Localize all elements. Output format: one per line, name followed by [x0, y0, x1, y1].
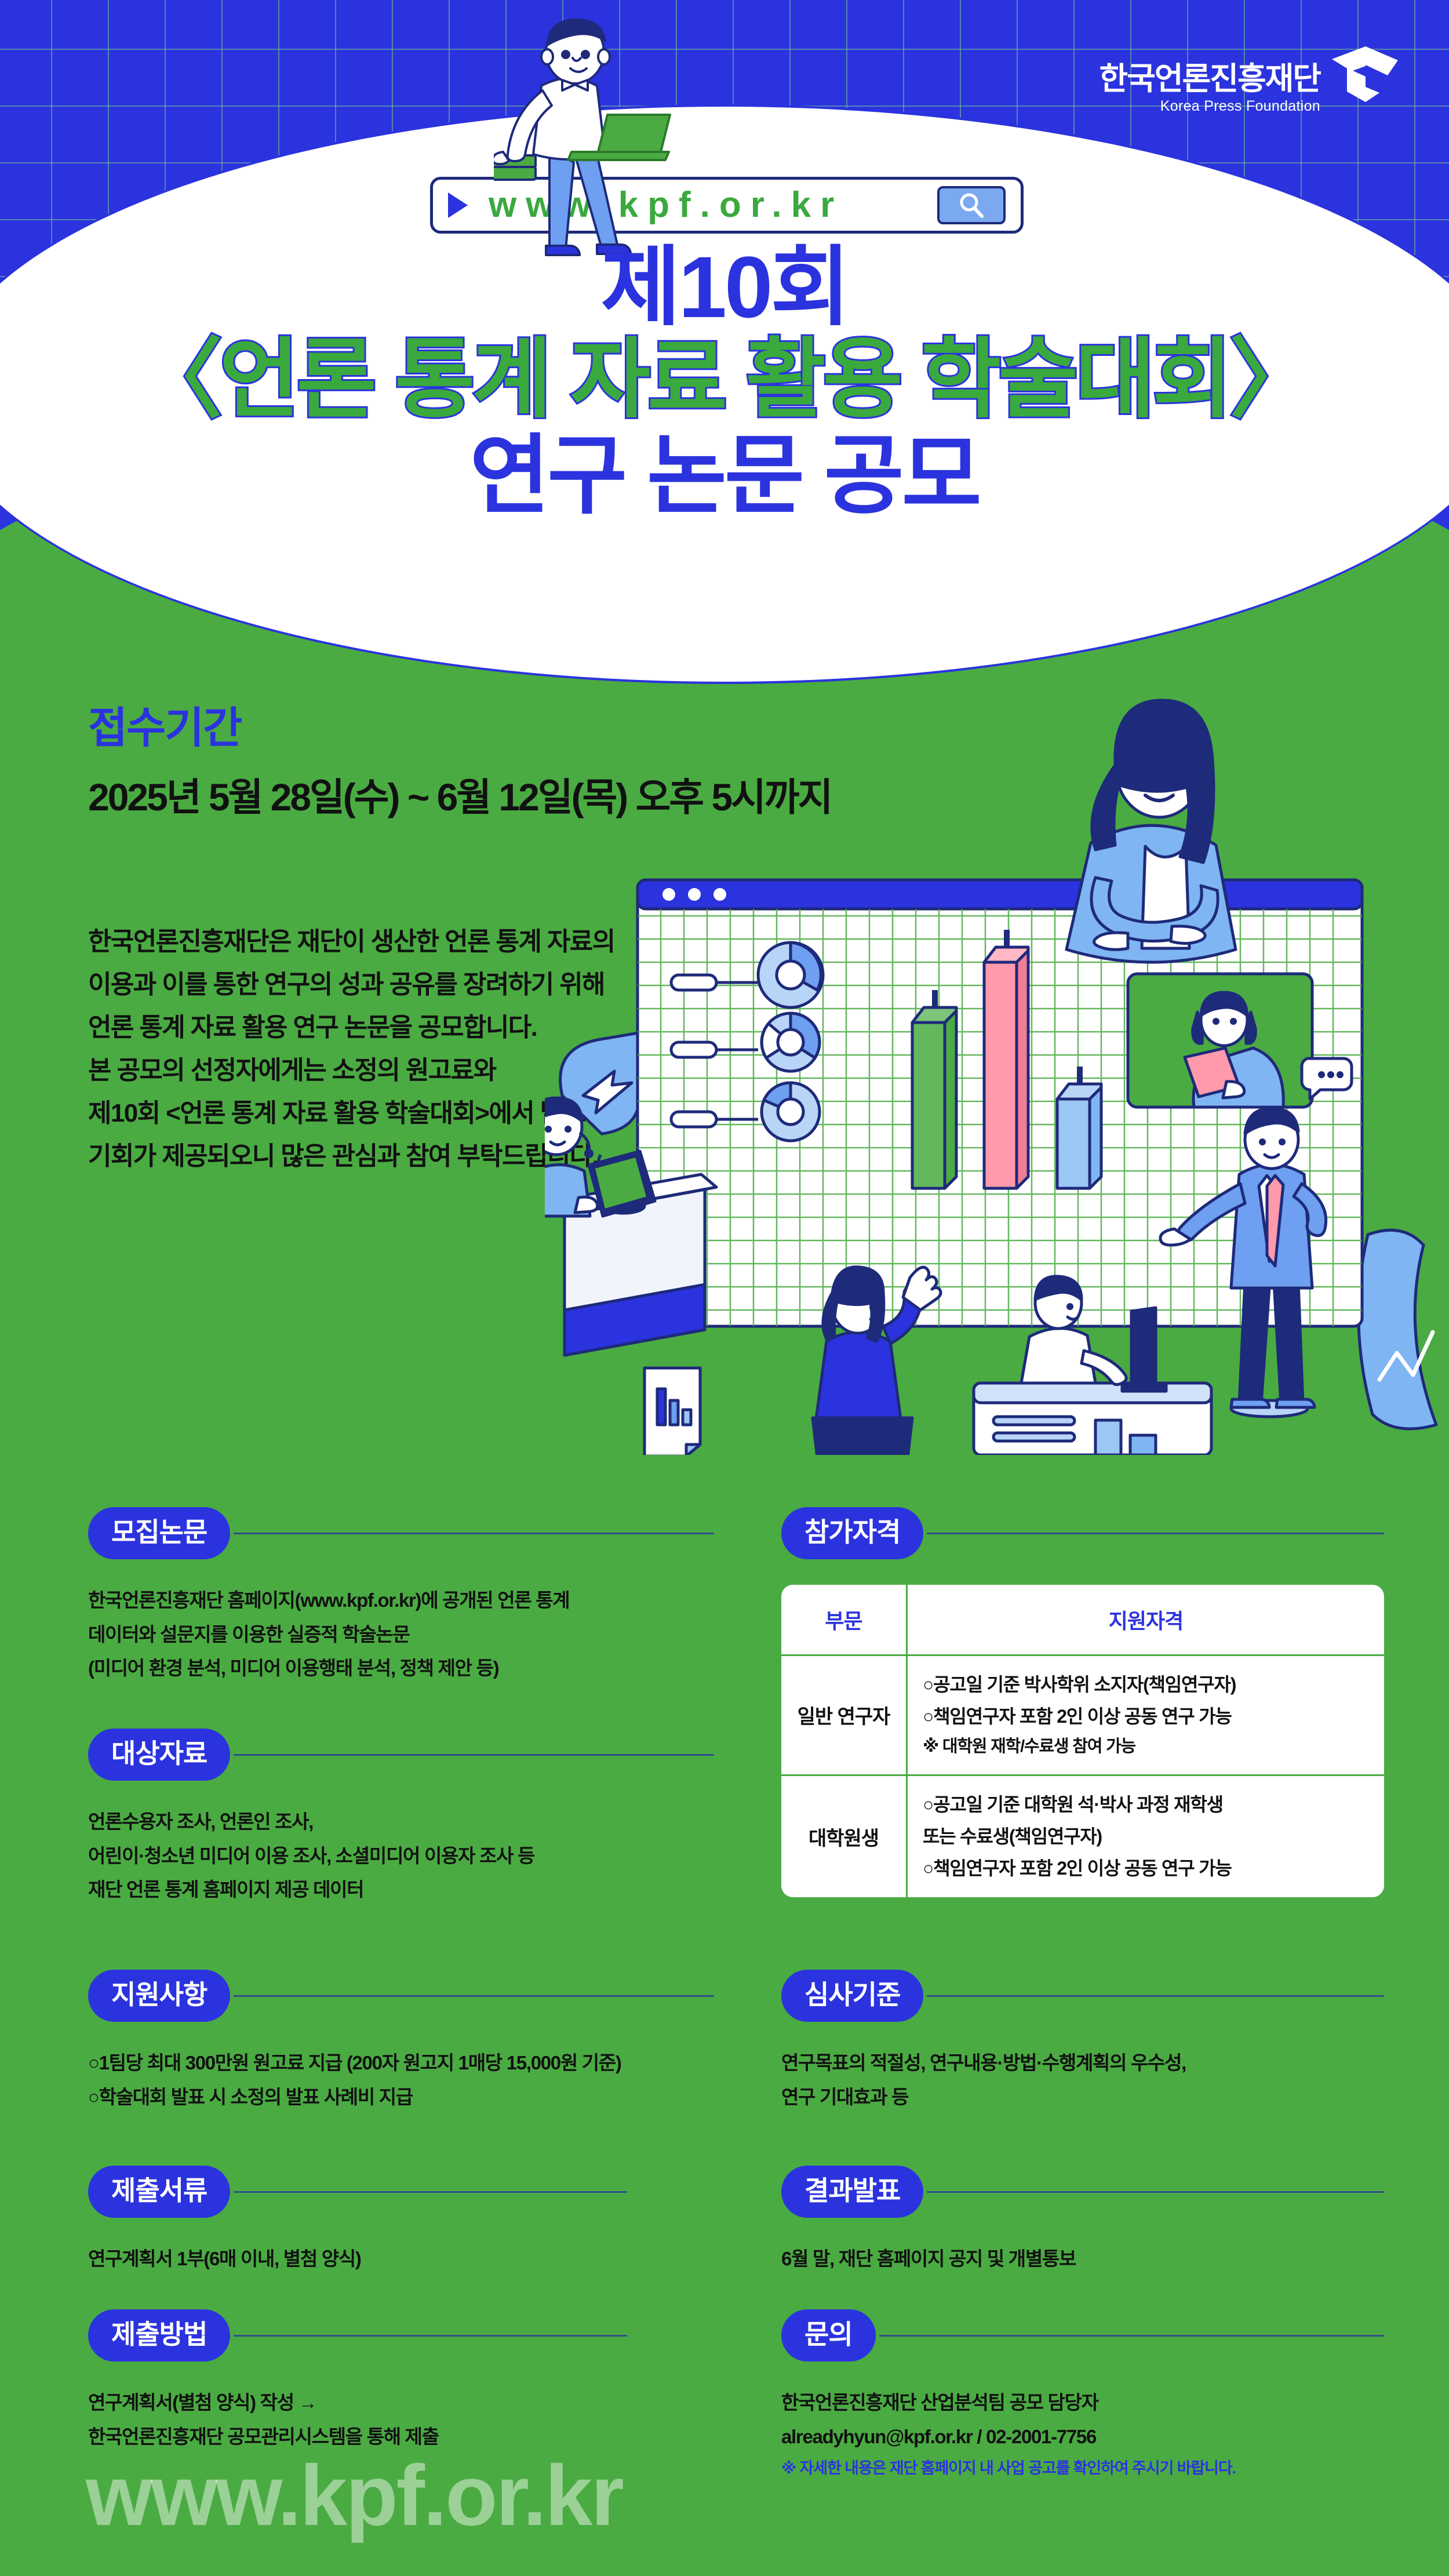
section-criteria: 심사기준 연구목표의 적절성, 연구내용·방법·수행계획의 우수성, 연구 기대… — [781, 1970, 1384, 2114]
section-body: 연구계획서 1부(6매 이내, 별첨 양식) — [88, 2242, 627, 2276]
body-line: 어린이·청소년 미디어 이용 조사, 소셜미디어 이용자 조사 등 — [88, 1839, 714, 1873]
section-header: 제출방법 — [88, 2309, 627, 2362]
person-with-laptop-illustration — [494, 17, 784, 267]
section-body: 6월 말, 재단 홈페이지 공지 및 개별통보 — [781, 2242, 1384, 2276]
header-rule — [234, 1995, 714, 1997]
section-body: 한국언론진흥재단 홈페이지(www.kpf.or.kr)에 공개된 언론 통계 … — [88, 1584, 714, 1686]
body-line: 연구목표의 적절성, 연구내용·방법·수행계획의 우수성, — [781, 2046, 1384, 2080]
title-line-2: 〈언론 통계 자료 활용 학술대회〉 — [0, 330, 1449, 428]
contact-email-phone[interactable]: alreadyhyun@kpf.or.kr / 02-2001-7756 — [781, 2420, 1384, 2454]
section-title-papers: 모집논문 — [88, 1507, 230, 1559]
cell-part: 일반 연구자 — [781, 1656, 908, 1776]
kpf-logo: 한국언론진흥재단 Korea Press Foundation — [1100, 45, 1399, 114]
section-title-contact: 문의 — [781, 2309, 876, 2362]
section-title-eligibility: 참가자격 — [781, 1507, 923, 1559]
body-line: 한국언론진흥재단 홈페이지(www.kpf.or.kr)에 공개된 언론 통계 — [88, 1584, 714, 1618]
body-line: 한국언론진흥재단 산업분석팀 공모 담당자 — [781, 2386, 1384, 2420]
table-row: 대학원생 ○공고일 기준 대학원 석·박사 과정 재학생 또는 수료생(책임연구… — [781, 1776, 1384, 1897]
section-header: 모집논문 — [88, 1507, 714, 1559]
eligibility-table: 부문 지원자격 일반 연구자 ○공고일 기준 박사학위 소지자(책임연구자) ○… — [781, 1585, 1384, 1897]
title-line-1: 제10회 — [0, 243, 1449, 330]
body-line: ○학술대회 발표 시 소정의 발표 사례비 지급 — [88, 2080, 714, 2115]
section-papers: 모집논문 한국언론진흥재단 홈페이지(www.kpf.or.kr)에 공개된 언… — [88, 1507, 714, 1686]
header-rule — [927, 1995, 1384, 1997]
section-header: 문의 — [781, 2309, 1384, 2362]
qualification-line: ○공고일 기준 박사학위 소지자(책임연구자) — [923, 1669, 1369, 1701]
section-title-results: 결과발표 — [781, 2166, 923, 2218]
section-body: ○1팀당 최대 300만원 원고료 지급 (200자 원고지 1매당 15,00… — [88, 2046, 714, 2114]
header-rule — [234, 1754, 714, 1756]
body-line: 6월 말, 재단 홈페이지 공지 및 개별통보 — [781, 2242, 1384, 2276]
body-line: (미디어 환경 분석, 미디어 이용행태 분석, 정책 제안 등) — [88, 1651, 714, 1686]
search-icon[interactable] — [937, 186, 1006, 224]
section-title-documents: 제출서류 — [88, 2166, 230, 2218]
qualification-line: 또는 수료생(책임연구자) — [923, 1821, 1369, 1853]
qualification-line: ○공고일 기준 대학원 석·박사 과정 재학생 — [923, 1789, 1369, 1821]
header-rule — [879, 2335, 1384, 2337]
table-header-row: 부문 지원자격 — [781, 1585, 1384, 1656]
header-rule — [927, 2191, 1384, 2193]
section-header: 심사기준 — [781, 1970, 1384, 2022]
section-header: 지원사항 — [88, 1970, 714, 2022]
header-rule — [234, 2335, 627, 2337]
body-line: 연구계획서(별첨 양식) 작성 → — [88, 2386, 627, 2420]
reception-period-label: 접수기간 — [88, 693, 241, 755]
section-title-data: 대상자료 — [88, 1729, 230, 1781]
body-line: 언론수용자 조사, 언론인 조사, — [88, 1805, 714, 1839]
column-header-qualification: 지원자격 — [908, 1585, 1384, 1656]
section-method: 제출방법 연구계획서(별첨 양식) 작성 → 한국언론진흥재단 공모관리시스템을… — [88, 2309, 627, 2454]
header-rule — [927, 1533, 1384, 1534]
poster-title: 제10회 〈언론 통계 자료 활용 학술대회〉 연구 논문 공모 — [0, 243, 1449, 523]
body-line: 데이터와 설문지를 이용한 실증적 학술논문 — [88, 1618, 714, 1652]
qualification-line: ○책임연구자 포함 2인 이상 공동 연구 가능 — [923, 1701, 1369, 1733]
section-header: 대상자료 — [88, 1729, 714, 1781]
section-header: 결과발표 — [781, 2166, 1384, 2218]
section-support: 지원사항 ○1팀당 최대 300만원 원고료 지급 (200자 원고지 1매당 … — [88, 1970, 714, 2114]
footer-note: ※ 자세한 내용은 재단 홈페이지 내 사업 공고를 확인하여 주시기 바랍니다… — [781, 2455, 1236, 2478]
section-header: 참가자격 — [781, 1507, 1384, 1559]
logo-text: 한국언론진흥재단 Korea Press Foundation — [1100, 63, 1320, 114]
section-body: 언론수용자 조사, 언론인 조사, 어린이·청소년 미디어 이용 조사, 소셜미… — [88, 1805, 714, 1907]
section-body: 연구목표의 적절성, 연구내용·방법·수행계획의 우수성, 연구 기대효과 등 — [781, 2046, 1384, 2114]
cell-part: 대학원생 — [781, 1776, 908, 1897]
qualification-line: ○책임연구자 포함 2인 이상 공동 연구 가능 — [923, 1853, 1369, 1884]
body-line: 연구 기대효과 등 — [781, 2080, 1384, 2115]
section-body: 연구계획서(별첨 양식) 작성 → 한국언론진흥재단 공모관리시스템을 통해 제… — [88, 2386, 627, 2454]
section-eligibility: 참가자격 부문 지원자격 일반 연구자 ○공고일 기준 박사학위 소지자(책임연… — [781, 1507, 1384, 1897]
footer-big-url: www.kpf.or.kr — [86, 2453, 622, 2539]
section-data: 대상자료 언론수용자 조사, 언론인 조사, 어린이·청소년 미디어 이용 조사… — [88, 1729, 714, 1907]
conference-illustration — [545, 696, 1449, 1455]
cell-qualification: ○공고일 기준 대학원 석·박사 과정 재학생 또는 수료생(책임연구자) ○책… — [908, 1776, 1384, 1897]
section-body: 한국언론진흥재단 산업분석팀 공모 담당자 alreadyhyun@kpf.or… — [781, 2386, 1384, 2454]
section-title-criteria: 심사기준 — [781, 1970, 923, 2022]
play-triangle-icon — [448, 192, 468, 218]
kpf-triangle-logo-icon — [1330, 45, 1399, 103]
title-line-3: 연구 논문 공모 — [0, 428, 1449, 523]
poster-root: 한국언론진흥재단 Korea Press Foundation www.kpf.… — [0, 0, 1449, 2576]
section-results: 결과발표 6월 말, 재단 홈페이지 공지 및 개별통보 — [781, 2166, 1384, 2276]
logo-english-name: Korea Press Foundation — [1100, 99, 1320, 114]
header-rule — [234, 1533, 714, 1534]
header-rule — [234, 2191, 627, 2193]
section-documents: 제출서류 연구계획서 1부(6매 이내, 별첨 양식) — [88, 2166, 627, 2276]
section-header: 제출서류 — [88, 2166, 627, 2218]
qualification-note: ※ 대학원 재학/수료생 참여 가능 — [923, 1733, 1369, 1762]
logo-korean-name: 한국언론진흥재단 — [1100, 63, 1320, 94]
section-contact: 문의 한국언론진흥재단 산업분석팀 공모 담당자 alreadyhyun@kpf… — [781, 2309, 1384, 2454]
body-line: 연구계획서 1부(6매 이내, 별첨 양식) — [88, 2242, 627, 2276]
section-title-method: 제출방법 — [88, 2309, 230, 2362]
body-line: ○1팀당 최대 300만원 원고료 지급 (200자 원고지 1매당 15,00… — [88, 2046, 714, 2080]
section-title-support: 지원사항 — [88, 1970, 230, 2022]
table-row: 일반 연구자 ○공고일 기준 박사학위 소지자(책임연구자) ○책임연구자 포함… — [781, 1656, 1384, 1776]
column-header-part: 부문 — [781, 1585, 908, 1656]
cell-qualification: ○공고일 기준 박사학위 소지자(책임연구자) ○책임연구자 포함 2인 이상 … — [908, 1656, 1384, 1776]
body-line: 재단 언론 통계 홈페이지 제공 데이터 — [88, 1873, 714, 1907]
